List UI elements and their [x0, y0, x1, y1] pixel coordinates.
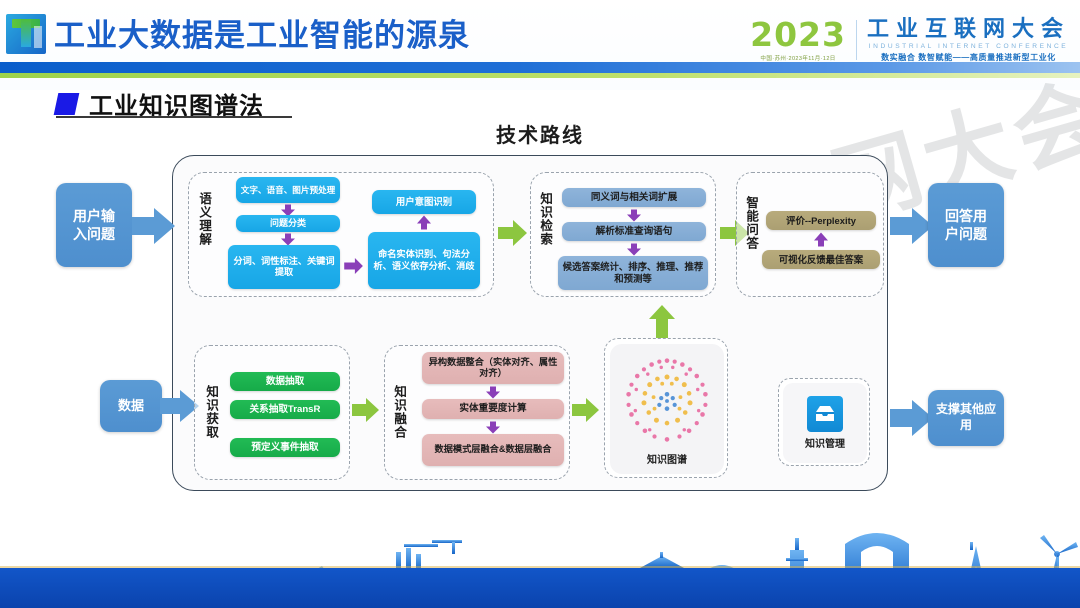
- knowledge-graph-caption: 知识图谱: [647, 451, 687, 466]
- knowledge-graph-card: 知识图谱: [604, 338, 728, 478]
- technology-roadmap-diagram: 2023工业互联网大会 用户输 入问题 语义理解 文字、语音、图片预处理 问题分…: [0, 0, 1080, 540]
- node-tokenization-pos-keyword: 分词、词性标注、关键词提取: [228, 245, 340, 289]
- footer-skyline: [0, 516, 1080, 608]
- knowledge-management-icon: [807, 396, 843, 432]
- input-question-label: 用户输 入问题: [73, 207, 115, 243]
- arrow-down-icon: [485, 385, 501, 400]
- knowledge-management-card: 知识管理: [778, 378, 870, 466]
- group-label-knowledge-retrieval: 知识检索: [538, 192, 551, 246]
- arrow-semantic-to-retrieval-icon: [498, 218, 528, 248]
- support-applications-label: 支撑其他应 用: [936, 402, 996, 433]
- arrow-right-icon: [344, 258, 364, 274]
- node-schema-data-fusion: 数据模式层融合&数据层融合: [422, 434, 564, 466]
- node-synonym-expansion: 同义词与相关词扩展: [562, 188, 706, 207]
- node-question-classification: 问题分类: [236, 215, 340, 232]
- arrow-down-icon: [626, 208, 642, 223]
- node-visual-feedback-answer: 可视化反馈最佳答案: [762, 250, 880, 269]
- group-label-knowledge-fusion: 知识融合: [392, 385, 405, 439]
- answer-question-box: 回答用 户问题: [928, 183, 1004, 267]
- node-intent-recognition: 用户意图识别: [372, 190, 476, 214]
- node-parse-standard-query: 解析标准查询语句: [562, 222, 706, 241]
- arrow-down-icon: [626, 242, 642, 257]
- slide-canvas: 工业大数据是工业智能的源泉 2023 中国·苏州·2023年11月·12日 工业…: [0, 0, 1080, 608]
- node-entity-importance: 实体重要度计算: [422, 399, 564, 419]
- arrow-acquisition-to-fusion-icon: [352, 396, 380, 424]
- arrow-up-icon: [416, 215, 432, 230]
- arrow-up-icon: [813, 232, 829, 247]
- group-intelligent-qa: [736, 172, 884, 297]
- group-label-semantic-understanding: 语义理解: [197, 192, 210, 246]
- node-data-extraction: 数据抽取: [230, 372, 340, 391]
- input-question-box: 用户输 入问题: [56, 183, 132, 267]
- group-label-knowledge-acquisition: 知识获取: [204, 385, 217, 439]
- node-relation-extraction-transr: 关系抽取TransR: [230, 400, 340, 419]
- arrow-input-to-semantic-icon: [132, 206, 176, 246]
- arrow-fusion-to-graph-icon: [572, 396, 600, 424]
- footer-band: [0, 568, 1080, 608]
- node-predefined-event-extraction: 预定义事件抽取: [230, 438, 340, 457]
- node-preprocess: 文字、语音、图片预处理: [236, 177, 340, 203]
- knowledge-graph-icon: [619, 353, 715, 449]
- arrow-graph-to-retrieval-icon: [648, 305, 676, 339]
- arrow-down-icon: [485, 420, 501, 435]
- node-ner-syntax-semantic: 命名实体识别、句法分析、语义依存分析、消歧: [368, 232, 480, 289]
- answer-question-label: 回答用 户问题: [945, 207, 987, 243]
- support-applications-box: 支撑其他应 用: [928, 390, 1004, 446]
- node-heterogeneous-integration: 异构数据整合（实体对齐、属性对齐）: [422, 352, 564, 384]
- data-input-box: 数据: [100, 380, 162, 432]
- group-label-intelligent-qa: 智能问答: [744, 196, 757, 250]
- node-answer-ranking: 候选答案统计、排序、推理、推荐和预测等: [558, 256, 708, 290]
- data-input-label: 数据: [118, 398, 144, 415]
- knowledge-management-caption: 知识管理: [805, 435, 845, 450]
- node-evaluation-perplexity: 评价--Perplexity: [766, 211, 876, 230]
